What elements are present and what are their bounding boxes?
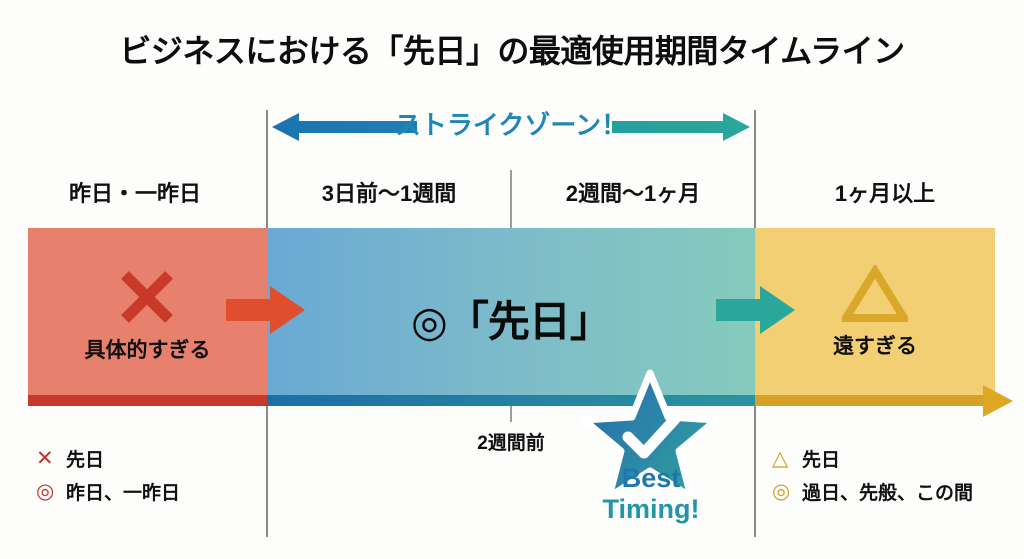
center-term-senjitsu: ◎「先日」 <box>267 288 755 349</box>
best-timing-text: Best Timing! <box>568 463 734 525</box>
best-timing-line2: Timing! <box>568 494 734 525</box>
legend-left: ✕ 先日 ◎ 昨日、一昨日 <box>36 442 180 508</box>
column-header-three-days-to-week: 3日前〜1週間 <box>270 176 508 208</box>
transition-arrow-red-icon <box>226 283 306 337</box>
infographic-canvas: ビジネスにおける「先日」の最適使用期間タイムライン ストライクゾーン！ 昨日・一… <box>0 0 1024 559</box>
double-circle-icon: ◎ <box>36 481 66 502</box>
legend-item-label: 先日 <box>66 445 104 472</box>
best-timing-line1: Best <box>568 463 734 494</box>
legend-item-label: 先日 <box>802 445 840 472</box>
best-timing-badge: Best Timing! <box>580 369 720 539</box>
legend-item: ✕ 先日 <box>36 442 180 475</box>
page-title: ビジネスにおける「先日」の最適使用期間タイムライン <box>0 26 1024 72</box>
column-header-two-weeks-to-month: 2週間〜1ヶ月 <box>514 176 752 208</box>
strike-zone-label: ストライクゾーン！ <box>267 108 755 142</box>
legend-item: ◎ 昨日、一昨日 <box>36 475 180 508</box>
axis-segment-red <box>28 395 267 406</box>
cross-mark-icon: ✕ <box>36 448 66 469</box>
strike-zone-group: ストライクゾーン！ <box>267 108 755 154</box>
column-header-over-a-month: 1ヶ月以上 <box>760 176 1010 208</box>
cross-mark-icon <box>118 268 176 326</box>
transition-arrow-teal-icon <box>716 283 796 337</box>
axis-arrowhead-icon <box>983 385 1013 417</box>
legend-item: ◎ 過日、先般、この間 <box>772 475 973 508</box>
triangle-mark-icon: △ <box>772 448 802 469</box>
legend-right: △ 先日 ◎ 過日、先般、この間 <box>772 442 973 508</box>
axis-segment-yellow <box>755 395 985 406</box>
legend-item: △ 先日 <box>772 442 973 475</box>
caption-two-weeks-ago: 2週間前 <box>430 428 592 455</box>
legend-item-label: 過日、先般、この間 <box>802 478 973 505</box>
legend-item-label: 昨日、一昨日 <box>66 478 180 505</box>
column-header-yesterday: 昨日・一昨日 <box>10 176 260 208</box>
triangle-mark-icon <box>842 265 908 323</box>
double-circle-icon: ◎ <box>772 481 802 502</box>
band-label-too-specific: 具体的すぎる <box>28 334 267 364</box>
